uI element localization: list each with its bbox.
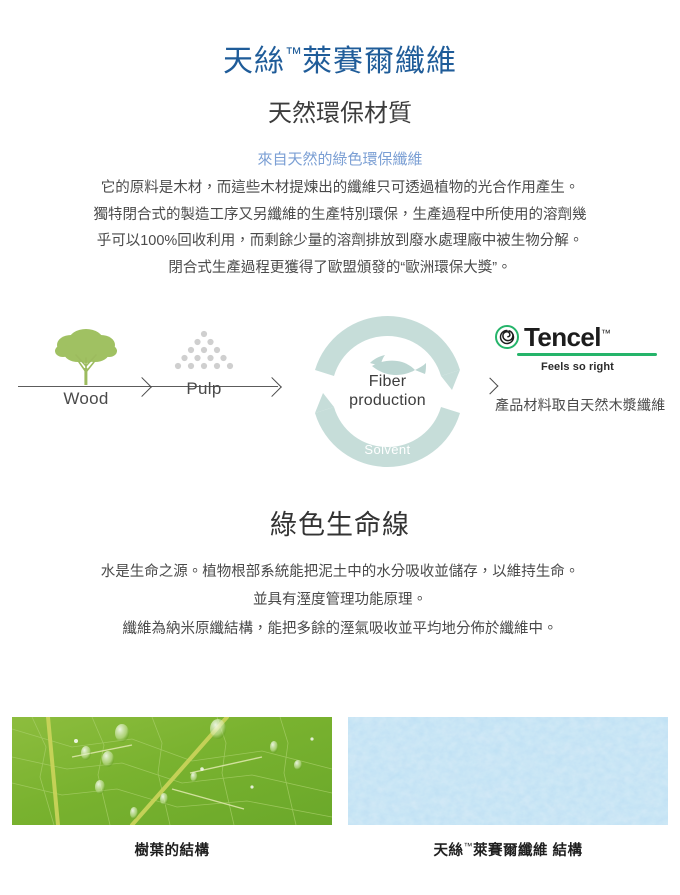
intro-line-1: 它的原料是木材，而這些木材提煉出的纖維只可透過植物的光合作用產生。	[0, 175, 680, 202]
chevron-right-icon	[132, 377, 152, 397]
page-subtitle: 天然環保材質	[0, 80, 680, 129]
leaf-structure-photo	[12, 717, 332, 825]
section-two-line-3: 纖維為納米原纖結構，能把多餘的溼氣吸收並平均地分佈於纖維中。	[0, 615, 680, 643]
intro-line-3: 乎可以100%回收利用，而剩餘少量的溶劑排放到廢水處理廠中被生物分解。	[0, 228, 680, 255]
process-stage-label: Wood	[40, 389, 132, 409]
lyocell-fiber-structure-photo	[348, 717, 668, 825]
intro-line-4: 閉合式生產過程更獲得了歐盟頒發的“歐洲環保大獎”。	[0, 255, 680, 282]
tencel-logo: Tencel™	[495, 324, 670, 350]
process-stage-label: Pulp	[160, 379, 248, 399]
tencel-underline-rule	[517, 353, 657, 356]
image-caption-leaf: 樹葉的結構	[12, 839, 332, 860]
trademark-symbol: ™	[285, 44, 302, 63]
page-title: 天絲™萊賽爾纖維	[0, 0, 680, 80]
page-title-main: 天絲	[223, 45, 285, 78]
intro-copy: 它的原料是木材，而這些木材提煉出的纖維只可透過植物的光合作用產生。 獨特閉合式的…	[0, 170, 680, 282]
tencel-brand-text: Tencel	[524, 322, 601, 352]
page-title-rest: 萊賽爾纖維	[302, 45, 457, 78]
section-two-title: 綠色生命線	[0, 489, 680, 542]
caption-fiber-main: 天絲	[433, 843, 463, 859]
tencel-brand-block: Tencel™ Feels so right 產品材料取自天然木漿纖維	[495, 324, 670, 415]
tencel-spiral-icon	[495, 325, 519, 349]
tree-icon	[51, 324, 121, 386]
tencel-trademark: ™	[601, 328, 610, 339]
section-two-copy: 水是生命之源。植物根部系統能把泥土中的水分吸收並儲存，以維持生命。 並具有溼度管…	[0, 542, 680, 643]
section-two-line-2: 並具有溼度管理功能原理。	[0, 586, 680, 614]
process-stage-wood: Wood	[40, 324, 132, 409]
caption-fiber-rest: 萊賽爾纖維 結構	[473, 843, 583, 859]
caption-fiber-trademark: ™	[463, 841, 473, 851]
cycle-label-solvent: Solvent	[300, 442, 475, 457]
caption-leaf-text: 樹葉的結構	[135, 843, 210, 859]
product-info-page: 天絲™萊賽爾纖維 天然環保材質 來自天然的綠色環保纖維 它的原料是木材，而這些木…	[0, 0, 680, 895]
tencel-material-note: 產品材料取自天然木漿纖維	[495, 395, 670, 415]
image-caption-fiber: 天絲™萊賽爾纖維 結構	[348, 839, 668, 860]
process-stage-pulp: Pulp	[160, 328, 248, 399]
accent-tagline: 來自天然的綠色環保纖維	[0, 128, 680, 170]
tencel-tagline: Feels so right	[541, 361, 670, 373]
pulp-dots-icon	[168, 328, 240, 376]
process-diagram: Wood Pulp	[0, 304, 680, 489]
image-comparison-row: 樹葉的結構 天絲™萊賽爾纖維 結構	[0, 717, 680, 860]
section-two-line-1: 水是生命之源。植物根部系統能把泥土中的水分吸收並儲存，以維持生命。	[0, 558, 680, 586]
image-cell-leaf: 樹葉的結構	[12, 717, 332, 860]
chevron-right-icon	[262, 377, 282, 397]
tencel-wordmark: Tencel™	[524, 324, 610, 350]
intro-line-2: 獨特閉合式的製造工序又另纖維的生產特別環保，生產過程中所使用的溶劑幾	[0, 202, 680, 229]
cycle-label-water: Water	[300, 336, 475, 351]
fiber-production-cycle: Water Solvent Fiber production	[300, 304, 475, 479]
image-cell-fiber: 天絲™萊賽爾纖維 結構	[348, 717, 668, 860]
